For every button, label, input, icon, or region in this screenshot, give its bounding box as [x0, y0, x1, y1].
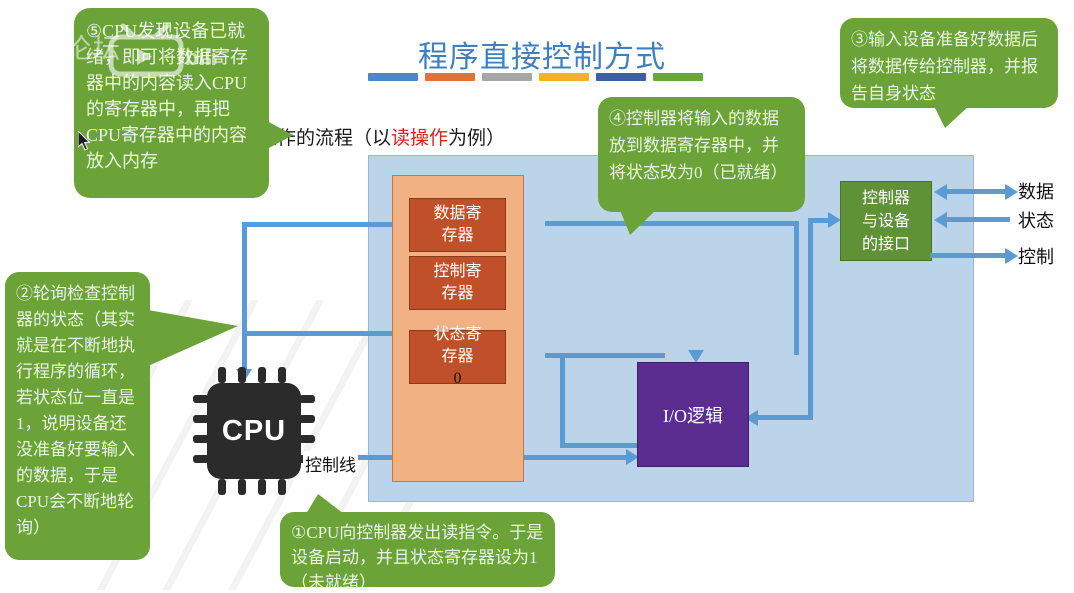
cpu-pin-top-3 [258, 367, 266, 383]
device-interface-line3: 的接口 [862, 233, 910, 256]
accent-bar-5 [596, 73, 646, 81]
status-bus-label: 状态 [1018, 207, 1054, 233]
control-line-label: 控制线 [303, 451, 358, 476]
cpu-pin-left-3 [193, 435, 209, 443]
cpu-pin-right-3 [299, 435, 315, 443]
bus-line-control [930, 253, 1010, 258]
status-register-line1: 状态寄 [433, 324, 481, 346]
device-interface-box: 控制器 与设备 的接口 [840, 181, 932, 261]
callout-step-3-text: ③输入设备准备好数据后将数据传给控制器，并报告自身状态 [851, 30, 1038, 103]
conn-status-to-iologic-bottom [560, 443, 645, 448]
status-register-value: 0 [441, 368, 473, 390]
arrowhead-control-right [1005, 248, 1018, 264]
conn-status-vertical [560, 353, 565, 448]
callout-step-1-text: ①CPU向控制器发出读指令。于是设备启动，并且状态寄存器设为1（未就绪） [291, 523, 543, 592]
callout-step-3-tail [934, 106, 969, 128]
control-register-line2: 存器 [441, 283, 473, 305]
bilibili-watermark-icon: bili [105, 20, 215, 76]
status-register-line2: 存器 [441, 346, 473, 368]
accent-bar-1 [368, 73, 418, 81]
subtitle: 操作的流程（以读操作为例） [258, 123, 505, 150]
cpu-pin-left-1 [193, 395, 209, 403]
title-accent-bars [368, 73, 704, 81]
conn-iologic-to-data-register [545, 221, 799, 226]
cpu-pin-top-4 [278, 367, 286, 383]
data-register-line2: 存器 [441, 225, 473, 247]
arrowhead-data-left [934, 184, 947, 200]
data-bus-label: 数据 [1018, 178, 1054, 204]
subtitle-highlight: 读操作 [391, 128, 448, 149]
mouse-cursor [78, 131, 92, 151]
cpu-pin-right-1 [299, 395, 315, 403]
cpu-chip: CPU [193, 367, 315, 495]
arrowhead-data-right [1005, 184, 1018, 200]
callout-step-4: ④控制器将输入的数据放到数据寄存器中，并将状态改为0（已就绪） [598, 97, 805, 212]
callout-step-4-tail [620, 210, 656, 235]
cpu-pin-left-2 [193, 415, 209, 423]
accent-bar-4 [539, 73, 589, 81]
conn-interface-to-iologic [755, 415, 813, 420]
device-interface-line1: 控制器 [862, 187, 910, 210]
subtitle-suffix: 为例） [448, 128, 505, 149]
data-register-box: 数据寄 存器 [409, 198, 506, 252]
callout-step-3: ③输入设备准备好数据后将数据传给控制器，并报告自身状态 [840, 18, 1058, 108]
conn-iologic-vertical [794, 221, 799, 355]
cpu-pin-bottom-2 [238, 479, 246, 495]
device-interface-line2: 与设备 [862, 210, 910, 233]
control-register-box: 控制寄 存器 [409, 256, 506, 310]
callout-step-2-tail [148, 310, 238, 366]
cpu-pin-left-4 [193, 455, 209, 463]
callout-step-5-tail [267, 121, 293, 149]
callout-step-1: ①CPU向控制器发出读指令。于是设备启动，并且状态寄存器设为1（未就绪） [280, 512, 555, 587]
bus-line-status [944, 217, 1010, 222]
cpu-pin-bottom-3 [258, 479, 266, 495]
cpu-pin-right-2 [299, 415, 315, 423]
cpu-body: CPU [207, 383, 301, 479]
cpu-label: CPU [222, 415, 286, 448]
cpu-pin-top-2 [238, 367, 246, 383]
cpu-pin-bottom-4 [278, 479, 286, 495]
svg-text:bili: bili [185, 45, 217, 70]
accent-bar-6 [653, 73, 703, 81]
bus-line-data [944, 189, 1010, 194]
conn-interface-down [808, 223, 813, 419]
io-logic-box: I/O逻辑 [637, 362, 749, 467]
accent-bar-3 [482, 73, 532, 81]
cpu-pin-top-1 [218, 367, 226, 383]
arrowhead-status-left [934, 212, 947, 228]
status-register-box: 状态寄 存器 0 [409, 330, 506, 384]
callout-step-4-text: ④控制器将输入的数据放到数据寄存器中，并将状态改为0（已就绪） [609, 109, 788, 182]
callout-step-2: ②轮询检查控制器的状态（其实就是在不断地执行程序的循环，若状态位一直是1，说明设… [5, 272, 150, 560]
callout-step-2-text: ②轮询检查控制器的状态（其实就是在不断地执行程序的循环，若状态位一直是1，说明设… [16, 284, 135, 537]
control-bus-label: 控制 [1018, 243, 1054, 269]
accent-bar-2 [425, 73, 475, 81]
io-logic-label: I/O逻辑 [663, 402, 723, 428]
conn-cpu-vertical [242, 222, 247, 374]
data-register-line1: 数据寄 [433, 203, 481, 225]
slide-canvas: 程序直接控制方式 操作的流程（以读操作为例） 数据寄 存器 控制寄 [0, 0, 1074, 593]
callout-step-1-tail [306, 494, 344, 514]
cpu-pin-bottom-1 [218, 479, 226, 495]
control-register-line1: 控制寄 [433, 261, 481, 283]
status-register-line2-row: 存器 0 [441, 346, 473, 390]
page-title: 程序直接控制方式 [392, 32, 692, 76]
